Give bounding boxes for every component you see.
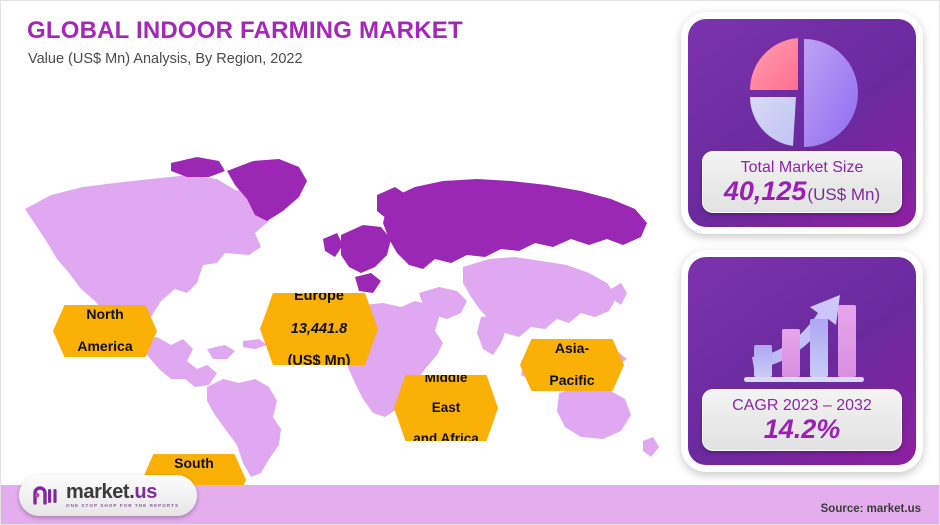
cagr-value: 14.2% — [764, 415, 841, 443]
cagr-card: CAGR 2023 – 2032 14.2% — [688, 257, 916, 465]
world-map-svg — [11, 87, 671, 477]
cagr-value-pill: CAGR 2023 – 2032 14.2% — [702, 389, 902, 451]
bar-chart-growth-svg — [732, 271, 872, 391]
total-market-size-value: 40,125 — [724, 177, 807, 205]
cagr-label: CAGR 2023 – 2032 — [732, 397, 872, 415]
region-label-line2: East — [394, 400, 498, 415]
logo-word-main: market — [66, 481, 129, 503]
logo-text: market.us ONE STOP SHOP FOR THE REPORTS — [66, 482, 179, 509]
bar-chart-growth-icon — [688, 267, 916, 395]
total-market-size-label: Total Market Size — [741, 159, 864, 177]
market-us-logo[interactable]: market.us ONE STOP SHOP FOR THE REPORTS — [19, 475, 197, 516]
region-badge-north-america[interactable]: North America — [53, 305, 157, 357]
pie-chart-svg — [743, 34, 861, 152]
region-label-line2: Pacific — [520, 373, 624, 389]
logo-wordmark: market.us — [66, 482, 179, 502]
region-label-line1: Asia- — [520, 341, 624, 357]
cagr-value-row: 14.2% — [764, 415, 841, 443]
region-badge-asia-pacific[interactable]: Asia- Pacific — [520, 339, 624, 391]
page-subtitle: Value (US$ Mn) Analysis, By Region, 2022 — [28, 51, 303, 67]
region-label-line2: America — [53, 339, 157, 355]
page-title: GLOBAL INDOOR FARMING MARKET — [27, 17, 463, 45]
infographic-root: GLOBAL INDOOR FARMING MARKET Value (US$ … — [0, 0, 940, 525]
region-value: 13,441.8 — [260, 321, 378, 337]
total-market-size-value-row: 40,125 (US$ Mn) — [724, 177, 880, 205]
total-market-size-value-pill: Total Market Size 40,125 (US$ Mn) — [702, 151, 902, 213]
logo-tagline: ONE STOP SHOP FOR THE REPORTS — [66, 504, 179, 509]
logo-word-suffix: us — [134, 481, 157, 503]
region-label-line1: North — [53, 307, 157, 323]
total-market-size-card: Total Market Size 40,125 (US$ Mn) — [688, 19, 916, 227]
region-badge-middle-east-and-africa[interactable]: Middle East and Africa — [394, 375, 498, 441]
pie-chart-icon — [688, 29, 916, 157]
region-badge-europe[interactable]: Europe 13,441.8 (US$ Mn) — [260, 293, 378, 365]
world-map: North America South America Europe 13,44… — [11, 87, 671, 477]
total-market-size-unit: (US$ Mn) — [807, 186, 880, 204]
source-label: Source: market.us — [821, 503, 921, 515]
region-label-line1: South — [142, 456, 246, 472]
logo-mark-icon — [31, 484, 59, 508]
